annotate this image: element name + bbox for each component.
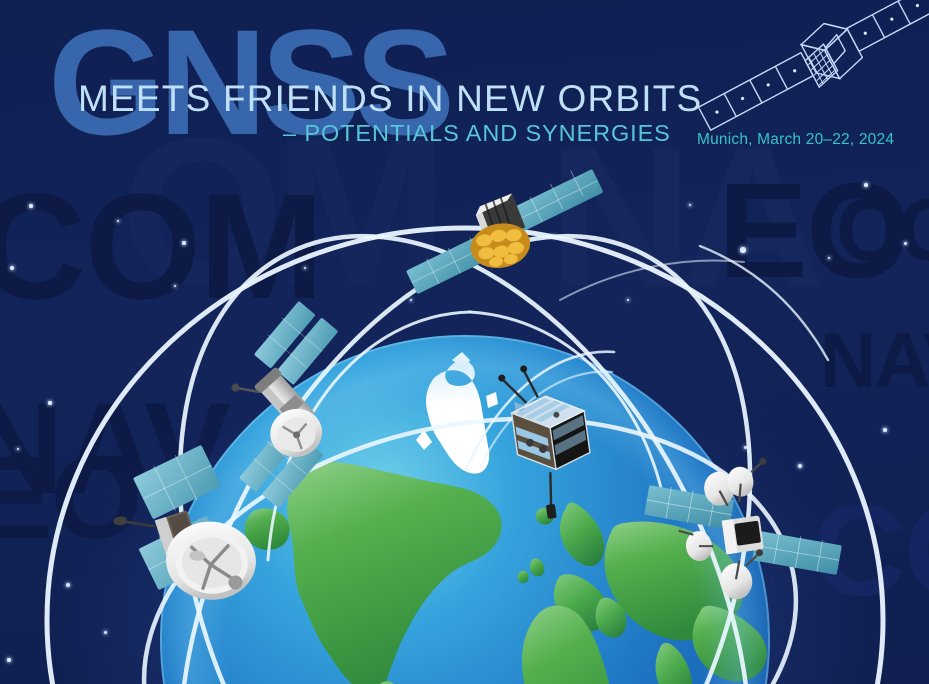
conference-poster: OM NA COM NAV EO EO CO NAV COM GNSS	[0, 0, 929, 684]
page-title: MEETS FRIENDS IN NEW ORBITS	[78, 78, 702, 120]
satellite-wireframe	[691, 0, 929, 143]
event-date: Munich, March 20–22, 2024	[697, 131, 894, 149]
page-subtitle: – POTENTIALS AND SYNERGIES	[283, 120, 671, 147]
